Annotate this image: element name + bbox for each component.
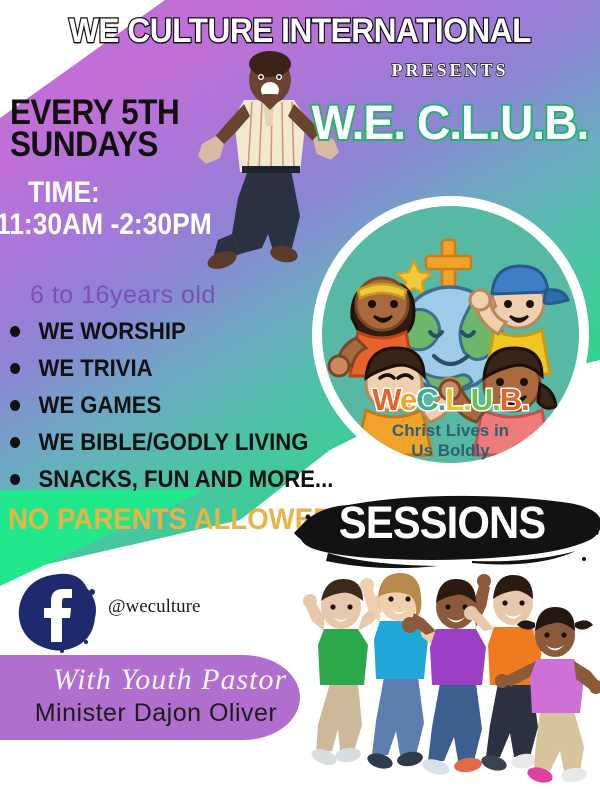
logo-tagline: Christ Lives in Us Boldly <box>322 421 579 460</box>
activity-label: WE GAMES <box>39 392 162 420</box>
logo-letter-c: C. <box>416 382 445 417</box>
logo-tagline-line1: Christ Lives in <box>322 421 579 441</box>
activity-label: WE TRIVIA <box>39 355 153 383</box>
event-title: W.E. C.L.U.B. <box>306 96 594 151</box>
activity-label: SNACKS, FUN AND MORE... <box>39 466 334 494</box>
logo-tagline-line2: Us Boldly <box>322 441 579 461</box>
age-range-text: 6 to 16years old <box>30 281 216 310</box>
bullet-dot-icon <box>10 326 20 337</box>
logo-letter-w: W <box>372 382 400 417</box>
list-item: WE BIBLE/GODLY LIVING <box>10 424 333 461</box>
logo-letter-l: L. <box>445 382 471 417</box>
facebook-icon[interactable] <box>18 572 100 654</box>
sessions-banner-label: SESSIONS <box>303 497 582 549</box>
organization-title: WE CULTURE INTERNATIONAL <box>21 12 579 51</box>
logo-letter-b: B. <box>500 382 529 417</box>
activity-label: WE BIBLE/GODLY LIVING <box>39 429 309 457</box>
schedule-text: EVERY 5TH SUNDAYS <box>10 97 217 161</box>
time-value: 11:30AM -2:30PM <box>0 208 216 242</box>
social-handle: @weculture <box>108 596 200 618</box>
bullet-dot-icon <box>10 400 20 411</box>
time-label: TIME: <box>28 176 222 210</box>
pastor-prefix: With Youth Pastor <box>30 663 310 697</box>
logo-letter-u: U. <box>471 382 500 417</box>
presents-label: PRESENTS <box>300 60 600 81</box>
list-item: WE TRIVIA <box>10 350 333 387</box>
activity-label: WE WORSHIP <box>39 318 186 346</box>
bullet-dot-icon <box>10 437 20 448</box>
bullet-dot-icon <box>10 363 20 374</box>
flyer-poster: WE CULTURE INTERNATIONAL PRESENTS W.E. C… <box>0 0 600 800</box>
list-item: SNACKS, FUN AND MORE... <box>10 461 333 498</box>
list-item: WE WORSHIP <box>10 313 333 350</box>
list-item: WE GAMES <box>10 387 333 424</box>
jumping-kids-photo <box>288 565 600 800</box>
bullet-dot-icon <box>10 474 20 485</box>
logo-wordmark: WeC.L.U.B. <box>322 382 579 418</box>
pastor-name: Minister Dajon Oliver <box>16 699 296 728</box>
no-parents-notice: NO PARENTS ALLOWED <box>8 503 333 537</box>
logo-letter-e: e <box>400 382 416 417</box>
activities-list: WE WORSHIP WE TRIVIA WE GAMES WE BIBLE/G… <box>10 313 361 498</box>
